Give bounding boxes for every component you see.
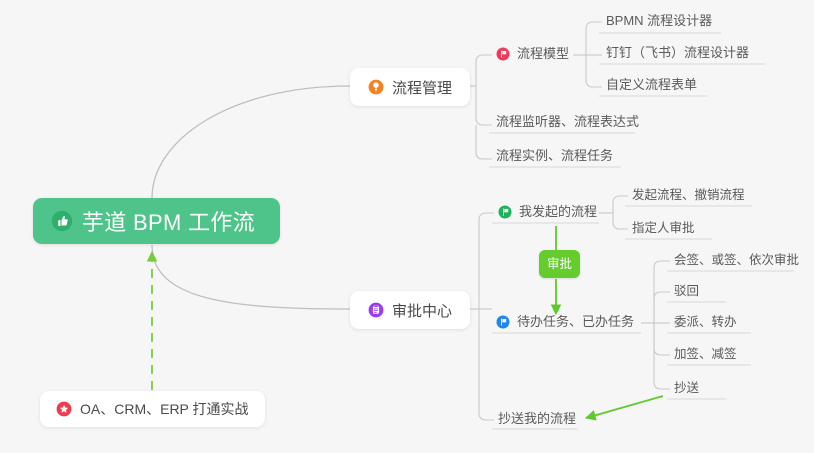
edge-todo-task-child-4 <box>654 323 670 355</box>
leaf-node-countersign-orsign-sequential[interactable]: 会签、或签、依次审批 <box>670 252 803 273</box>
edge-todo-task-child-5 <box>654 323 670 389</box>
thumbs-up-icon <box>51 210 73 232</box>
mindmap-canvas: 芋道 BPM 工作流 流程管理 流程模型 BPMN 流程设计器 钉钉（飞书）流程 <box>0 0 814 453</box>
leaf-node-add-remove-sign[interactable]: 加签、减签 <box>670 346 741 367</box>
edge-process-management-branch-low <box>476 125 492 159</box>
branch-label-process-management: 流程管理 <box>392 77 452 98</box>
edge-root-to-approval-center <box>152 245 350 309</box>
star-icon <box>56 401 72 417</box>
edge-my-initiated-child-2 <box>613 213 628 229</box>
leaf-label-bpmn-designer: BPMN 流程设计器 <box>606 12 712 29</box>
leaf-node-bpmn-designer[interactable]: BPMN 流程设计器 <box>602 12 716 33</box>
root-label: 芋道 BPM 工作流 <box>82 205 255 237</box>
leaf-label-todo-done-task: 待办任务、已办任务 <box>517 313 634 330</box>
approval-tag[interactable]: 审批 <box>539 250 580 278</box>
edge-my-initiated-child-1 <box>613 196 628 213</box>
leaf-node-todo-done-task[interactable]: 待办任务、已办任务 <box>492 313 638 334</box>
leaf-node-dingtalk-feishu-designer[interactable]: 钉钉（飞书）流程设计器 <box>602 44 753 65</box>
edge-process-management-branch-up <box>476 55 492 86</box>
leaf-node-process-model[interactable]: 流程模型 <box>492 45 573 66</box>
flag-icon <box>498 205 512 219</box>
flag-icon <box>496 47 510 61</box>
leaf-label-delegate-transfer: 委派、转办 <box>674 314 737 331</box>
leaf-label-add-remove-sign: 加签、减签 <box>674 346 737 363</box>
leaf-label-assignee-approval: 指定人审批 <box>632 220 695 237</box>
edge-todo-task-child-1 <box>654 261 670 323</box>
leaf-node-custom-process-form[interactable]: 自定义流程表单 <box>602 76 701 97</box>
edge-root-to-process-management <box>152 86 350 198</box>
edge-todo-task-child-2 <box>654 292 670 323</box>
leaf-node-cc-to-me-process[interactable]: 抄送我的流程 <box>494 410 580 431</box>
edge-process-model-child-1 <box>586 22 602 55</box>
leaf-node-assignee-approval[interactable]: 指定人审批 <box>628 220 699 241</box>
leaf-label-custom-process-form: 自定义流程表单 <box>606 76 697 93</box>
leaf-label-carbon-copy: 抄送 <box>674 380 699 397</box>
edge-process-model-child-3 <box>586 55 602 87</box>
leaf-label-reject: 驳回 <box>674 283 699 300</box>
approval-tag-label: 审批 <box>547 257 572 271</box>
leaf-label-countersign-orsign-sequential: 会签、或签、依次审批 <box>674 252 799 269</box>
branch-node-approval-center[interactable]: 审批中心 <box>350 291 470 329</box>
footnote-label-oa-crm-erp: OA、CRM、ERP 打通实战 <box>80 399 249 419</box>
leaf-label-cc-to-me-process: 抄送我的流程 <box>498 410 576 427</box>
root-node[interactable]: 芋道 BPM 工作流 <box>33 198 280 244</box>
leaf-node-process-instance-task[interactable]: 流程实例、流程任务 <box>492 147 617 168</box>
leaf-label-my-initiated-process: 我发起的流程 <box>519 203 597 220</box>
leaf-label-process-instance-task: 流程实例、流程任务 <box>496 147 613 164</box>
footnote-node-oa-crm-erp[interactable]: OA、CRM、ERP 打通实战 <box>40 391 265 427</box>
leaf-node-start-cancel-process[interactable]: 发起流程、撤销流程 <box>628 187 749 208</box>
flag-icon <box>496 315 510 329</box>
edge-process-management-branch-mid <box>476 86 492 125</box>
leaf-node-carbon-copy[interactable]: 抄送 <box>670 380 703 401</box>
leaf-label-process-model: 流程模型 <box>517 45 569 62</box>
leaf-node-process-listener-expression[interactable]: 流程监听器、流程表达式 <box>492 113 643 134</box>
leaf-label-process-listener-expression: 流程监听器、流程表达式 <box>496 113 639 130</box>
clipboard-icon <box>368 302 384 318</box>
branch-node-process-management[interactable]: 流程管理 <box>350 68 470 106</box>
leaf-node-my-initiated-process[interactable]: 我发起的流程 <box>494 203 601 224</box>
leaf-label-dingtalk-feishu-designer: 钉钉（飞书）流程设计器 <box>606 44 749 61</box>
edge-approval-center-branch-up <box>479 213 494 309</box>
leaf-node-delegate-transfer[interactable]: 委派、转办 <box>670 314 741 335</box>
branch-label-approval-center: 审批中心 <box>392 300 452 321</box>
leaf-label-start-cancel-process: 发起流程、撤销流程 <box>632 187 745 204</box>
lightbulb-pin-icon <box>368 79 384 95</box>
leaf-node-reject[interactable]: 驳回 <box>670 283 703 304</box>
arrow-carbon-copy-to-cc-process <box>586 396 663 418</box>
